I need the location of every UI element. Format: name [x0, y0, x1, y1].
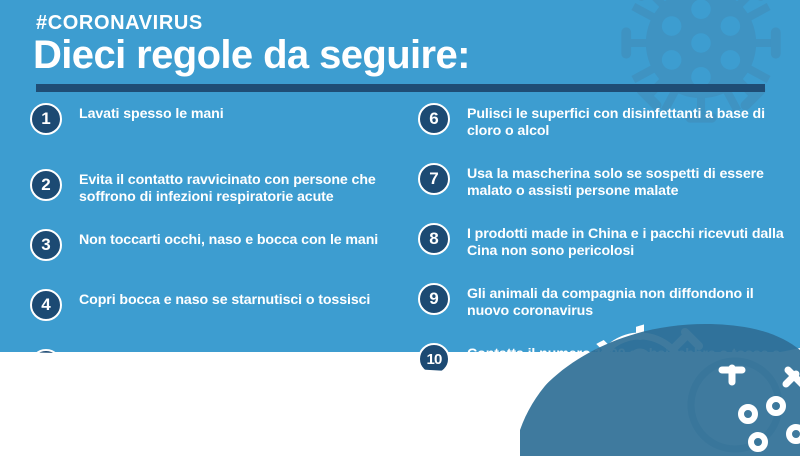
rule-number-badge: 2 [30, 169, 62, 201]
rule-number-badge: 4 [30, 289, 62, 321]
rule-number-badge: 1 [30, 103, 62, 135]
rule-text: I prodotti made in China e i pacchi rice… [467, 222, 796, 261]
list-item: 6 Pulisci le superfici con disinfettanti… [418, 102, 796, 146]
coronavirus-rules-poster: #CORONAVIRUS Dieci regole da seguire: 1 … [0, 0, 800, 456]
list-item: 2 Evita il contatto ravvicinato con pers… [30, 168, 410, 212]
rule-number-badge: 7 [418, 163, 450, 195]
rule-text: Non toccarti occhi, naso e bocca con le … [79, 228, 378, 249]
rule-text: Copri bocca e naso se starnutisci o toss… [79, 288, 370, 309]
list-item: 3 Non toccarti occhi, naso e bocca con l… [30, 228, 410, 272]
rule-number-badge: 9 [418, 283, 450, 315]
list-item: 7 Usa la mascherina solo se sospetti di … [418, 162, 796, 206]
title-underline-bar [36, 84, 765, 92]
rule-text: Evita il contatto ravvicinato con person… [79, 168, 410, 207]
rule-number-badge: 6 [418, 103, 450, 135]
rule-number-badge: 3 [30, 229, 62, 261]
list-item: 8 I prodotti made in China e i pacchi ri… [418, 222, 796, 266]
footer: Ministero della Salute ISTITUTO SUPERIOR… [0, 352, 800, 456]
rule-text: Pulisci le superfici con disinfettanti a… [467, 102, 796, 141]
list-item: 9 Gli animali da compagnia non diffondon… [418, 282, 796, 326]
rule-text: Gli animali da compagnia non diffondono … [467, 282, 796, 321]
page-title: Dieci regole da seguire: [33, 33, 470, 78]
rule-text: Usa la mascherina solo se sospetti di es… [467, 162, 796, 201]
list-item: 1 Lavati spesso le mani [30, 102, 410, 146]
rule-text: Lavati spesso le mani [79, 102, 224, 123]
hashtag-label: #CORONAVIRUS [36, 12, 203, 35]
rule-number-badge: 8 [418, 223, 450, 255]
list-item: 4 Copri bocca e naso se starnutisci o to… [30, 288, 410, 332]
